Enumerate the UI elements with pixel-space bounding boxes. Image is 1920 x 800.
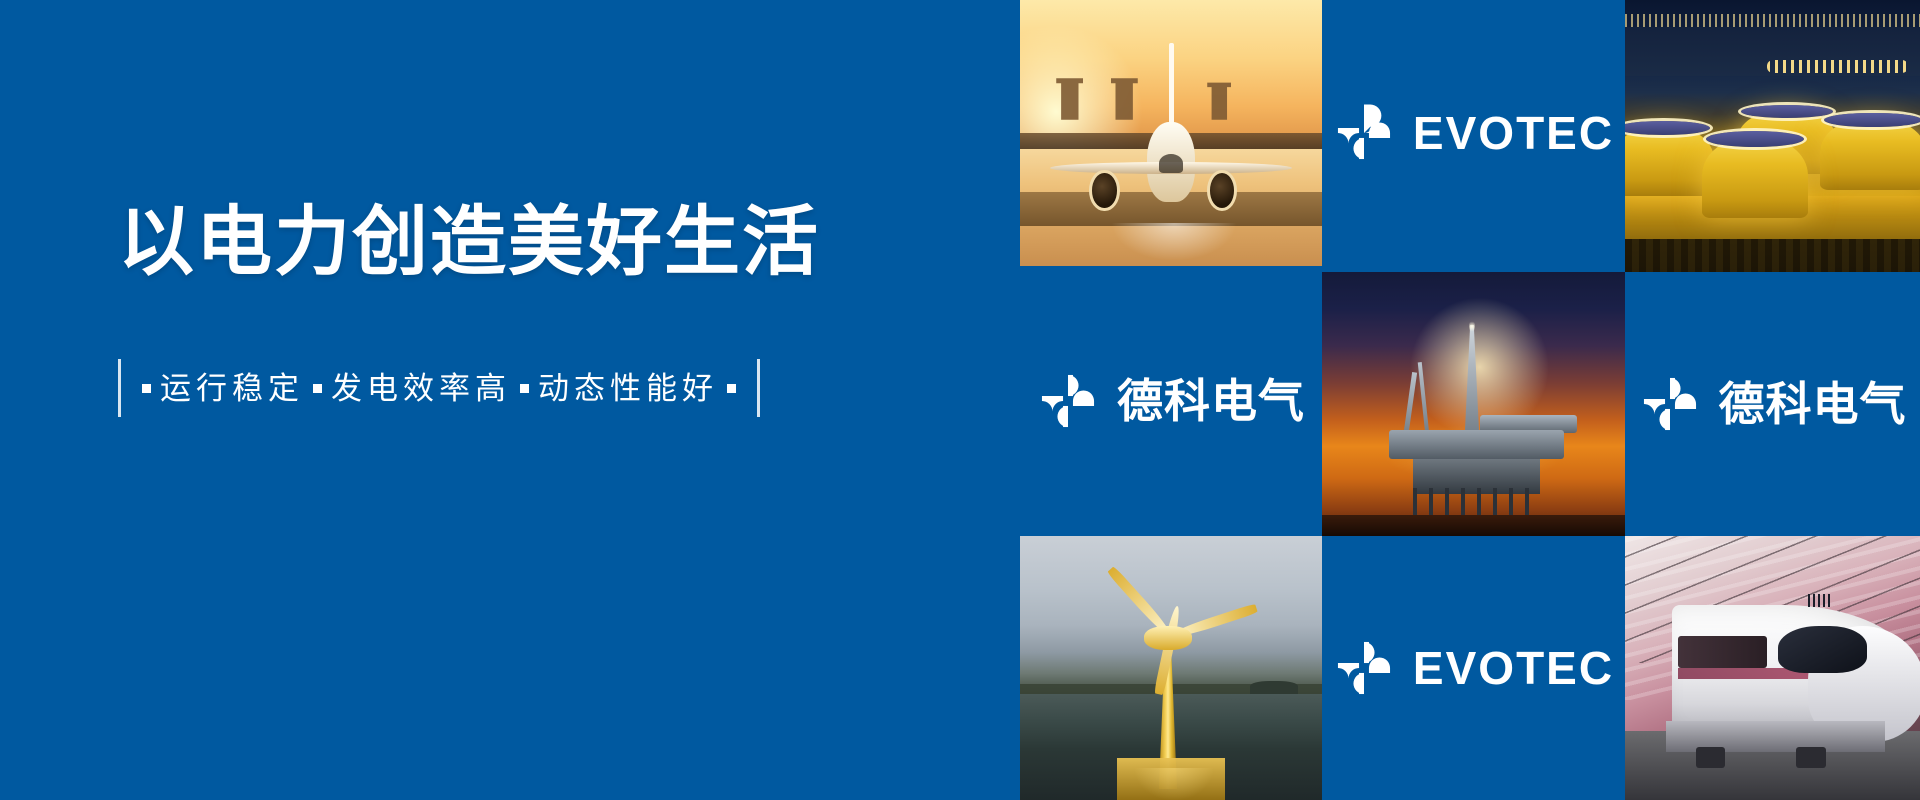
image-mosaic: EVOTEC (1020, 0, 1920, 800)
pinwheel-clover-logo-icon (1639, 373, 1701, 435)
pinwheel-clover-logo-icon (1037, 370, 1099, 432)
evotec-wordmark: EVOTEC (1413, 110, 1614, 156)
offshore-oil-rig-photo (1322, 272, 1625, 536)
deke-wordmark: 德科电气 (1719, 381, 1907, 427)
page-title: 以电力创造美好生活 (118, 200, 878, 285)
feature-list: 运行稳定 发电效率高 动态性能好 (118, 357, 878, 419)
square-bullet-icon (313, 384, 322, 393)
pinwheel-clover-logo-icon (1333, 637, 1395, 699)
square-bullet-icon (142, 384, 151, 393)
deke-wordmark: 德科电气 (1117, 378, 1305, 424)
hero-banner: 以电力创造美好生活 运行稳定 发电效率高 动态性能好 (0, 0, 1920, 800)
feature-rule-right (757, 359, 760, 417)
deke-electric-logo: 德科电气 (1020, 266, 1322, 536)
evotec-logo: EVOTEC (1322, 536, 1625, 800)
square-bullet-icon (520, 384, 529, 393)
feature-item-3: 动态性能好 (538, 373, 718, 404)
square-bullet-icon (727, 384, 736, 393)
feature-item-1: 运行稳定 (160, 373, 304, 404)
evotec-logo: EVOTEC (1322, 0, 1625, 266)
oil-storage-tanks-night-photo (1625, 0, 1920, 272)
high-speed-train-photo (1625, 536, 1920, 800)
copy-block: 以电力创造美好生活 运行稳定 发电效率高 动态性能好 (118, 200, 878, 419)
airplane-port-sunset-photo (1020, 0, 1322, 266)
wind-turbine-photo (1020, 536, 1322, 800)
evotec-wordmark: EVOTEC (1413, 645, 1614, 691)
deke-electric-logo: 德科电气 (1625, 272, 1920, 536)
feature-item-2: 发电效率高 (331, 373, 511, 404)
pinwheel-clover-logo-icon (1333, 102, 1395, 164)
feature-items: 运行稳定 发电效率高 动态性能好 (121, 373, 757, 404)
